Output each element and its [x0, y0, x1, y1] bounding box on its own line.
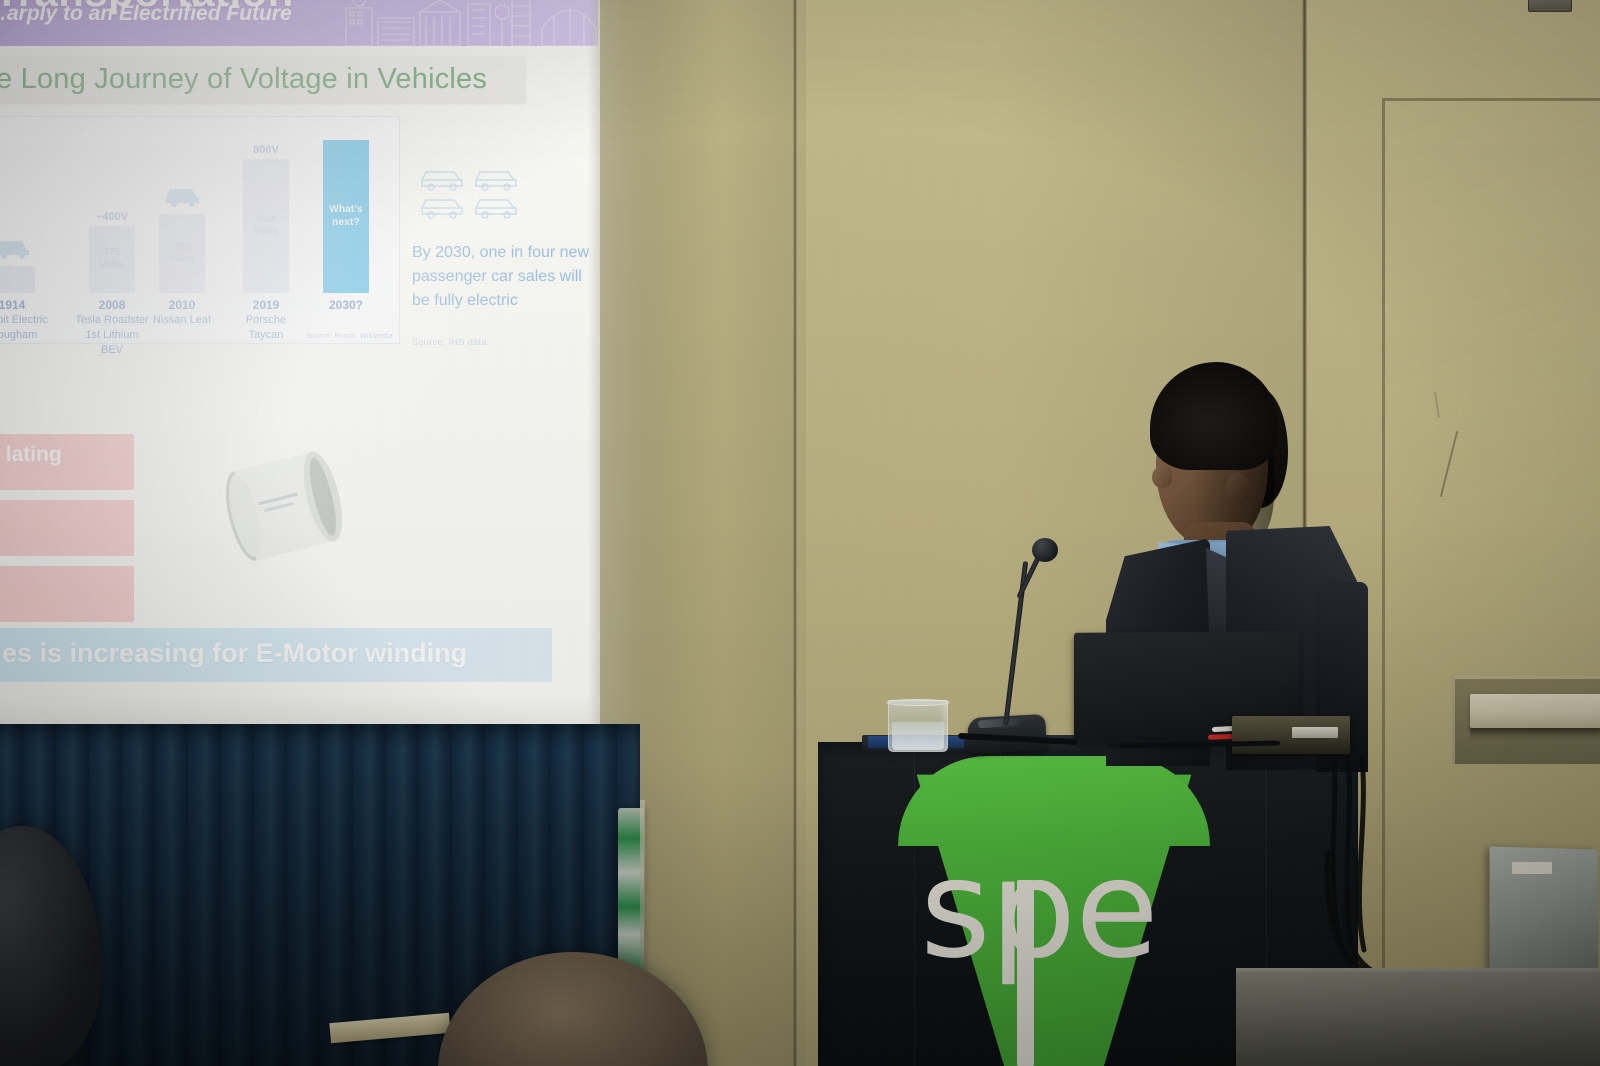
slide-title-band: Transportation …arply to an Electrified …	[0, 0, 598, 46]
chart-x-label: 2030?	[309, 297, 383, 313]
presenter-hair	[1150, 362, 1278, 470]
screen-right-edge	[588, 0, 600, 727]
slide-bottom-banner: es is increasing for E-Motor winding	[0, 628, 552, 682]
screen-bottom-falloff	[0, 693, 600, 727]
chart-bar-value-label: 375Volts	[100, 247, 125, 272]
water-level	[892, 722, 944, 750]
chart-bar-rect	[0, 266, 35, 293]
slide-section-heading: e Long Journey of Voltage in Vehicles	[0, 56, 526, 104]
spe-logo-text: spe	[920, 856, 1158, 965]
modern-car-icon	[162, 180, 202, 210]
chart-x-label: 1914Detroit Electric Brougham	[0, 297, 49, 343]
chart-x-label: 2008Tesla Roadster 1st Lithium BEV	[75, 297, 149, 358]
wall-corner-edge	[640, 800, 645, 990]
chart-x-label: 2010Nissan Leaf	[145, 297, 219, 328]
presentation-photo: Transportation …arply to an Electrified …	[0, 0, 1600, 1066]
slide-chart-panel: ~400V375Volts360Volts800V800VoltsWhat'sn…	[0, 116, 400, 344]
chart-bar-value-label: 800Volts	[254, 214, 279, 239]
vintage-car-icon	[0, 232, 32, 262]
slide-bottom-banner-text: es is increasing for E-Motor winding	[2, 638, 467, 669]
projection-screen: Transportation …arply to an Electrified …	[0, 0, 600, 727]
laptop-asset-tag	[1512, 862, 1552, 874]
chart-bar-caption: 800V	[253, 144, 279, 156]
presenter-nose	[1152, 466, 1172, 488]
slide-stat-block: By 2030, one in four new passenger car s…	[412, 164, 592, 347]
chart-bar-rect: 375Volts	[89, 226, 135, 293]
chart-x-label: 2019Porsche Taycan	[229, 297, 303, 343]
ceiling-fixture-icon	[1528, 0, 1572, 12]
chart-bar: 800V800Volts	[243, 144, 289, 293]
slide-section-heading-text: e Long Journey of Voltage in Vehicles	[0, 63, 487, 96]
chart-bar: 360Volts	[159, 180, 205, 293]
chart-bar: What'snext?	[323, 140, 369, 293]
slide-subtitle-italic: …arply to an Electrified Future	[0, 2, 292, 26]
slide-callout: es stresses on lating system	[0, 434, 134, 490]
audio-interface-label	[1292, 727, 1338, 738]
spe-logo-p-descender	[1017, 880, 1034, 1066]
slide-stat-headline: By 2030, one in four new passenger car s…	[412, 241, 592, 313]
chart-bar-rect: What'snext?	[323, 140, 369, 293]
chart-bar-caption: ~400V	[96, 211, 128, 223]
four-cars-icon	[418, 164, 528, 220]
chart-bar-rect: 800Volts	[243, 159, 289, 293]
chart-bar-value-label: 360Volts	[170, 241, 195, 266]
chart-source-note: Source: Bosch, Wikipedia	[306, 333, 393, 340]
slide-stat-source: Source: IHS data	[412, 337, 592, 347]
chart-bar-rect: 360Volts	[159, 214, 205, 293]
cable-bundle	[1322, 756, 1392, 986]
slide-callout: etween the	[0, 500, 134, 556]
insulation-sample-photo	[202, 431, 369, 582]
microphone-capsule-icon	[1032, 538, 1058, 562]
chart-bar-value-label: What'snext?	[329, 204, 363, 229]
chart-bar: ~400V375Volts	[89, 211, 135, 293]
glass-rim	[886, 699, 950, 706]
city-skyline-icon	[338, 0, 598, 46]
chart-bar	[0, 232, 35, 293]
vent-shadow	[1470, 728, 1600, 740]
chart-plot-area: ~400V375Volts360Volts800V800VoltsWhat'sn…	[0, 117, 399, 293]
slide-callout: tress	[0, 566, 134, 622]
baseboard-heater-icon	[1470, 694, 1600, 728]
wall-panel-seam	[793, 0, 797, 1066]
side-table	[1236, 972, 1600, 1066]
